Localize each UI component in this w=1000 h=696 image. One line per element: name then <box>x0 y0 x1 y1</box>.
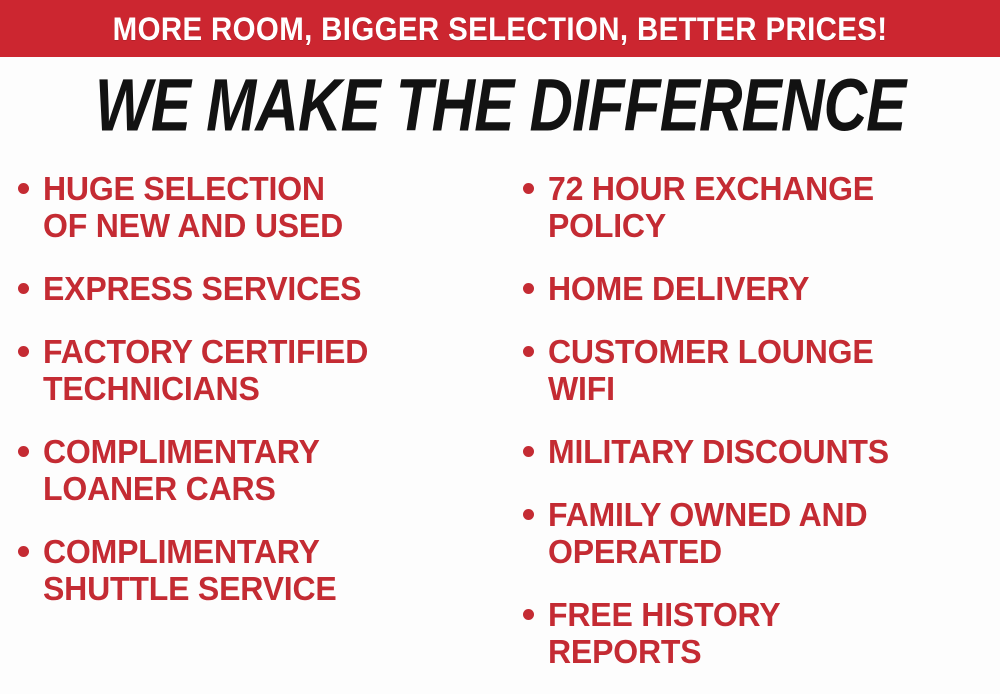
list-item: 72 HOUR EXCHANGE POLICY <box>523 170 1000 244</box>
list-item: HOME DELIVERY <box>523 270 1000 307</box>
banner-headline: MORE ROOM, BIGGER SELECTION, BETTER PRIC… <box>113 13 888 45</box>
list-item: EXPRESS SERVICES <box>18 270 505 307</box>
list-item-label: EXPRESS SERVICES <box>43 270 361 307</box>
list-item: HUGE SELECTION OF NEW AND USED <box>18 170 505 244</box>
bullet-dot-icon <box>523 609 534 620</box>
list-item: MILITARY DISCOUNTS <box>523 433 1000 470</box>
list-item-label: FREE HISTORY REPORTS <box>548 596 780 670</box>
list-item: FREE HISTORY REPORTS <box>523 596 1000 670</box>
bullet-dot-icon <box>18 446 29 457</box>
list-item: CUSTOMER LOUNGE WIFI <box>523 333 1000 407</box>
bullet-dot-icon <box>523 509 534 520</box>
list-item: FAMILY OWNED AND OPERATED <box>523 496 1000 570</box>
list-item-label: FACTORY CERTIFIED TECHNICIANS <box>43 333 368 407</box>
list-item-label: COMPLIMENTARY SHUTTLE SERVICE <box>43 533 337 607</box>
list-item-label: COMPLIMENTARY LOANER CARS <box>43 433 320 507</box>
list-item-label: FAMILY OWNED AND OPERATED <box>548 496 867 570</box>
list-item-label: CUSTOMER LOUNGE WIFI <box>548 333 874 407</box>
list-item: COMPLIMENTARY LOANER CARS <box>18 433 505 507</box>
list-item-label: HUGE SELECTION OF NEW AND USED <box>43 170 343 244</box>
promotional-poster: MORE ROOM, BIGGER SELECTION, BETTER PRIC… <box>0 0 1000 694</box>
benefits-column-right: 72 HOUR EXCHANGE POLICY HOME DELIVERY CU… <box>505 160 1000 696</box>
bullet-dot-icon <box>523 346 534 357</box>
page-title: WE MAKE THE DIFFERENCE <box>95 68 906 142</box>
bullet-dot-icon <box>523 183 534 194</box>
header-banner: MORE ROOM, BIGGER SELECTION, BETTER PRIC… <box>0 0 1000 57</box>
list-item-label: HOME DELIVERY <box>548 270 809 307</box>
list-item-label: MILITARY DISCOUNTS <box>548 433 889 470</box>
benefits-columns: HUGE SELECTION OF NEW AND USED EXPRESS S… <box>0 160 1000 694</box>
list-item-label: 72 HOUR EXCHANGE POLICY <box>548 170 874 244</box>
list-item: FACTORY CERTIFIED TECHNICIANS <box>18 333 505 407</box>
benefits-column-left: HUGE SELECTION OF NEW AND USED EXPRESS S… <box>0 160 505 633</box>
bullet-dot-icon <box>18 346 29 357</box>
bullet-dot-icon <box>18 283 29 294</box>
bullet-dot-icon <box>18 546 29 557</box>
bullet-dot-icon <box>523 283 534 294</box>
bullet-dot-icon <box>18 183 29 194</box>
list-item: COMPLIMENTARY SHUTTLE SERVICE <box>18 533 505 607</box>
bullet-dot-icon <box>523 446 534 457</box>
title-area: WE MAKE THE DIFFERENCE <box>0 66 1000 144</box>
